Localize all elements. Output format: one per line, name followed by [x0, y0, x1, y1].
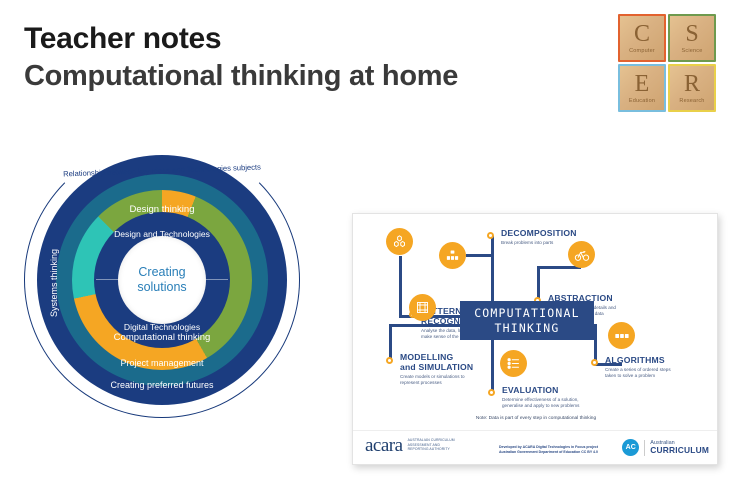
cser-word-computer: Computer: [629, 48, 655, 54]
curriculum-text-bottom: CURRICULUM: [650, 446, 709, 455]
cser-word-science: Science: [682, 48, 703, 54]
node-title-decomposition: DECOMPOSITION: [501, 228, 611, 238]
sequence-icon: [608, 322, 635, 349]
ac-badge-icon: AC: [622, 439, 639, 456]
core-separator-right: [204, 279, 228, 280]
infographic-note: Note: Data is part of every step in comp…: [353, 416, 718, 421]
node-desc-evaluation: Determine effectiveness of a solution, g…: [502, 397, 622, 409]
acara-logo: acara AUSTRALIAN CURRICULUM ASSESSMENT A…: [365, 437, 455, 455]
cser-letter-e: E: [635, 72, 650, 96]
cser-logo: C Computer S Science E Education R Resea…: [618, 14, 716, 112]
node-dot-evaluation: [488, 389, 495, 396]
blocks-icon: [439, 242, 466, 269]
node-dot-algorithms: [591, 359, 598, 366]
cser-word-education: Education: [629, 98, 655, 104]
core-separator-left: [96, 279, 120, 280]
cser-word-research: Research: [679, 98, 704, 104]
diagram-core: Creating solutions: [118, 236, 206, 324]
computational-thinking-infographic: PATTERN RECOGNITION Analyse the data, lo…: [352, 213, 718, 465]
node-decomposition: DECOMPOSITION Break problems into parts: [501, 228, 611, 246]
infographic-footer: acara AUSTRALIAN CURRICULUM ASSESSMENT A…: [353, 430, 718, 465]
acara-subtitle: AUSTRALIAN CURRICULUM ASSESSMENT AND REP…: [408, 438, 455, 452]
page-title: Teacher notes: [24, 22, 458, 56]
cser-block-research: R Research: [668, 64, 716, 112]
center-label: COMPUTATIONAL THINKING: [474, 306, 580, 335]
cube-icon: [409, 294, 436, 321]
page-header: Teacher notes Computational thinking at …: [0, 0, 733, 128]
node-desc-decomposition: Break problems into parts: [501, 240, 611, 246]
node-title-algorithms: ALGORITHMS: [605, 355, 713, 365]
bicycle-icon: [568, 241, 595, 268]
cser-block-computer: C Computer: [618, 14, 666, 62]
cser-letter-c: C: [634, 22, 650, 46]
node-dot-modelling-simulation: [386, 357, 393, 364]
core-label: Creating solutions: [137, 265, 186, 295]
cser-block-science: S Science: [668, 14, 716, 62]
honeycomb-icon: [386, 228, 413, 255]
connector-decomposition-vertical: [491, 236, 494, 302]
technologies-key-ideas-circle-diagram: Creating solutions Relationship between …: [18, 136, 306, 424]
acara-wordmark: acara: [365, 437, 403, 455]
node-desc-modelling-simulation: Create models or simulations to represen…: [400, 374, 510, 386]
node-desc-algorithms: Create a series of ordered steps taken t…: [605, 367, 713, 379]
node-title-evaluation: EVALUATION: [502, 385, 622, 395]
developed-credit: Developed by ACARA Digital Technologies …: [499, 445, 598, 456]
cser-block-education: E Education: [618, 64, 666, 112]
page-subtitle: Computational thinking at home: [24, 59, 458, 94]
node-dot-decomposition: [487, 232, 494, 239]
center-computational-thinking-box: COMPUTATIONAL THINKING: [460, 301, 594, 340]
title-block: Teacher notes Computational thinking at …: [24, 22, 458, 93]
cser-letter-r: R: [684, 72, 700, 96]
connector-decomposition-horizontal: [466, 254, 494, 257]
cser-letter-s: S: [685, 22, 698, 46]
node-title-modelling-simulation: MODELLING and SIMULATION: [400, 352, 510, 372]
logo-divider: [644, 440, 645, 456]
node-modelling-simulation: MODELLING and SIMULATION Create models o…: [400, 352, 510, 386]
australian-curriculum-logo: AC Australian CURRICULUM: [622, 439, 709, 456]
connector-pattern-vertical: [399, 256, 402, 318]
australian-curriculum-text: Australian CURRICULUM: [650, 440, 709, 455]
node-evaluation: EVALUATION Determine effectiveness of a …: [502, 385, 622, 409]
node-algorithms: ALGORITHMS Create a series of ordered st…: [605, 355, 713, 379]
